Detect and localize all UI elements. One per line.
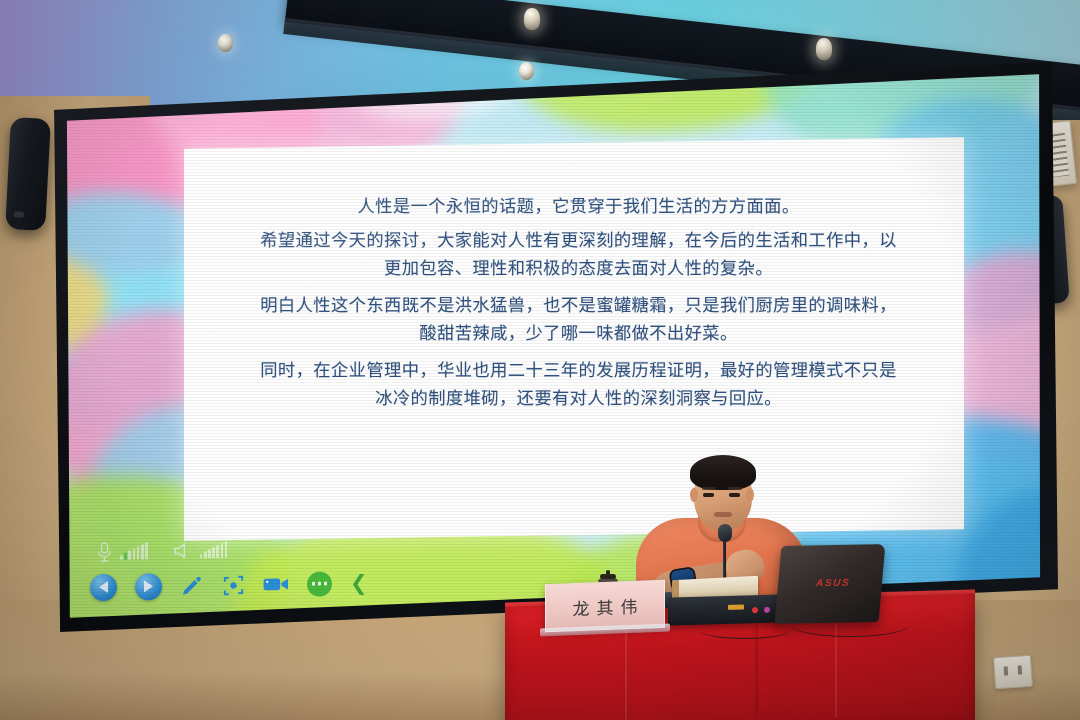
- mic-power-led: [764, 607, 770, 613]
- wall-power-outlet: [993, 655, 1033, 690]
- slide-line: 冰冷的制度堆砌，还要有对人性的深刻洞察与回应。: [224, 384, 932, 412]
- tablecloth-fold: [755, 625, 758, 717]
- led-video-wall[interactable]: 人性是一个永恒的话题，它贯穿于我们生活的方方面面。 希望通过今天的探讨，大家能对…: [48, 62, 1058, 632]
- osd-status-row: [84, 533, 384, 568]
- wall-speaker-left: [5, 117, 51, 231]
- presentation-slide: 人性是一个永恒的话题，它贯穿于我们生活的方方面面。 希望通过今天的探讨，大家能对…: [184, 137, 964, 541]
- screenshot-button[interactable]: [222, 573, 245, 596]
- play-next-button[interactable]: [135, 573, 162, 600]
- slide-line: 更加包容、理性和积极的态度去面对人性的复杂。: [224, 254, 932, 282]
- ellipsis-icon: [317, 582, 320, 585]
- slide-line: 酸甜苦辣咸，少了哪一味都做不出好菜。: [224, 319, 932, 347]
- mic-base-label: [728, 604, 744, 609]
- slide-paragraph-1: 人性是一个永恒的话题，它贯穿于我们生活的方方面面。: [224, 192, 932, 220]
- microphone-capsule: [718, 524, 732, 542]
- presenter-eyebrow: [702, 487, 716, 490]
- slide-paragraph-4: 同时，在企业管理中，华业也用二十三年的发展历程证明，最好的管理模式不只是 冰冷的…: [224, 356, 932, 412]
- presenter-ear: [690, 488, 698, 502]
- screen-surface[interactable]: 人性是一个永恒的话题，它贯穿于我们生活的方方面面。 希望通过今天的探讨，大家能对…: [62, 72, 1044, 620]
- microphone-base-unit[interactable]: [668, 594, 782, 625]
- cable: [700, 622, 790, 639]
- conference-room-scene: 人性是一个永恒的话题，它贯穿于我们生活的方方面面。 希望通过今天的探讨，大家能对…: [0, 0, 1080, 720]
- ellipsis-icon: [323, 582, 326, 585]
- presenter-eye: [729, 493, 740, 497]
- slide-line: 明白人性这个东西既不是洪水猛兽，也不是蜜罐糖霜，只是我们厨房里的调味料，: [224, 291, 932, 319]
- microphone-level-bars: [120, 543, 148, 559]
- nameplate-text: 龙其伟: [566, 592, 645, 620]
- slide-paragraph-3: 明白人性这个东西既不是洪水猛兽，也不是蜜罐糖霜，只是我们厨房里的调味料， 酸甜苦…: [224, 291, 932, 347]
- record-video-button[interactable]: [263, 575, 289, 593]
- osd-toolbar[interactable]: ❮: [84, 533, 384, 612]
- laptop-brand-logo: ASUS: [816, 578, 851, 590]
- triangle-left-icon: [99, 581, 108, 593]
- cable: [790, 612, 910, 637]
- presenter-mouth: [714, 512, 732, 517]
- ceiling-downlight: [218, 34, 233, 52]
- triangle-right-icon: [144, 580, 153, 592]
- microphone-icon: [96, 542, 113, 562]
- presenter-hair: [690, 455, 756, 490]
- ceiling-track-light: [816, 38, 832, 60]
- mic-status-led: [752, 607, 758, 613]
- presenter-eye: [703, 493, 714, 497]
- slide-line: 人性是一个永恒的话题，它贯穿于我们生活的方方面面。: [224, 192, 932, 220]
- annotate-pen-button[interactable]: [180, 574, 204, 598]
- presenter-ear: [746, 488, 754, 502]
- volume-level-bars: [199, 542, 227, 558]
- more-options-button[interactable]: [307, 571, 332, 596]
- previous-button[interactable]: [90, 573, 117, 600]
- slide-text-body: 人性是一个永恒的话题，它贯穿于我们生活的方方面面。 希望通过今天的探讨，大家能对…: [224, 192, 932, 421]
- slide-line: 同时，在企业管理中，华业也用二十三年的发展历程证明，最好的管理模式不只是: [224, 356, 932, 384]
- slide-paragraph-2: 希望通过今天的探讨，大家能对人性有更深刻的理解，在今后的生活和工作中，以 更加包…: [224, 226, 932, 282]
- volume-speaker-icon: [172, 542, 192, 560]
- tablecloth-fold: [625, 625, 627, 720]
- ellipsis-icon: [312, 582, 315, 585]
- ceiling-track-light: [524, 8, 540, 30]
- slide-line: 希望通过今天的探讨，大家能对人性有更深刻的理解，在今后的生活和工作中，以: [224, 226, 932, 254]
- presenter-eyebrow: [728, 487, 742, 490]
- osd-button-row[interactable]: ❮: [84, 563, 384, 608]
- collapse-toolbar-button[interactable]: ❮: [350, 572, 368, 593]
